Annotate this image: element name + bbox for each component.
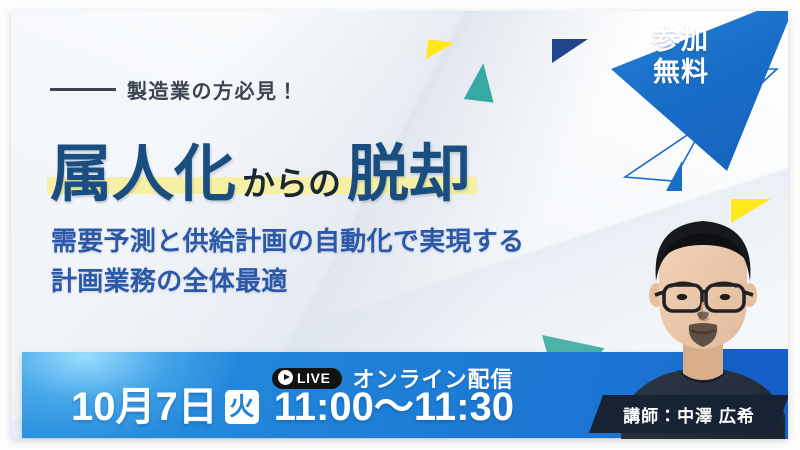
free-badge-text: 参加 無料 bbox=[633, 25, 729, 89]
free-admission-badge: 参加 無料 bbox=[603, 11, 788, 171]
play-icon bbox=[278, 370, 293, 385]
teal-triangle-icon bbox=[464, 61, 498, 102]
subtitle: 需要予測と供給計画の自動化で実現する 計画業務の全体最適 bbox=[51, 221, 524, 302]
banner-card: 参加 無料 製造業の方必見！ 属人化 からの 脱却 需要予測と供給計画の自動化で… bbox=[11, 11, 788, 439]
event-date: 10月7日 bbox=[71, 387, 218, 427]
date-time-row: 10月7日 火 11:00〜11:30 bbox=[71, 387, 514, 427]
navy-triangle-icon bbox=[552, 39, 588, 63]
headline-part3: 脱却 bbox=[347, 123, 471, 213]
live-label: LIVE bbox=[297, 371, 331, 385]
subtitle-line-2: 計画業務の全体最適 bbox=[51, 261, 524, 301]
day-of-week-badge: 火 bbox=[225, 390, 259, 424]
speaker-label: 講師：中澤 広希 bbox=[623, 402, 755, 427]
eyebrow: 製造業の方必見！ bbox=[50, 75, 299, 104]
event-time: 11:00〜11:30 bbox=[274, 387, 514, 427]
free-badge-line2: 無料 bbox=[633, 57, 729, 89]
yellow-triangle-icon bbox=[426, 39, 455, 62]
eyebrow-rule bbox=[50, 88, 116, 91]
headline-part2: からの bbox=[236, 157, 347, 205]
webinar-banner: 参加 無料 製造業の方必見！ 属人化 からの 脱却 需要予測と供給計画の自動化で… bbox=[0, 0, 800, 450]
headline-part1: 属人化 bbox=[50, 123, 236, 213]
free-badge-line1: 参加 bbox=[633, 25, 729, 57]
eyebrow-text: 製造業の方必見！ bbox=[127, 75, 299, 104]
subtitle-line-1: 需要予測と供給計画の自動化で実現する bbox=[51, 221, 524, 261]
headline: 属人化 からの 脱却 bbox=[50, 123, 471, 213]
speaker-badge: 講師：中澤 広希 bbox=[589, 395, 788, 433]
